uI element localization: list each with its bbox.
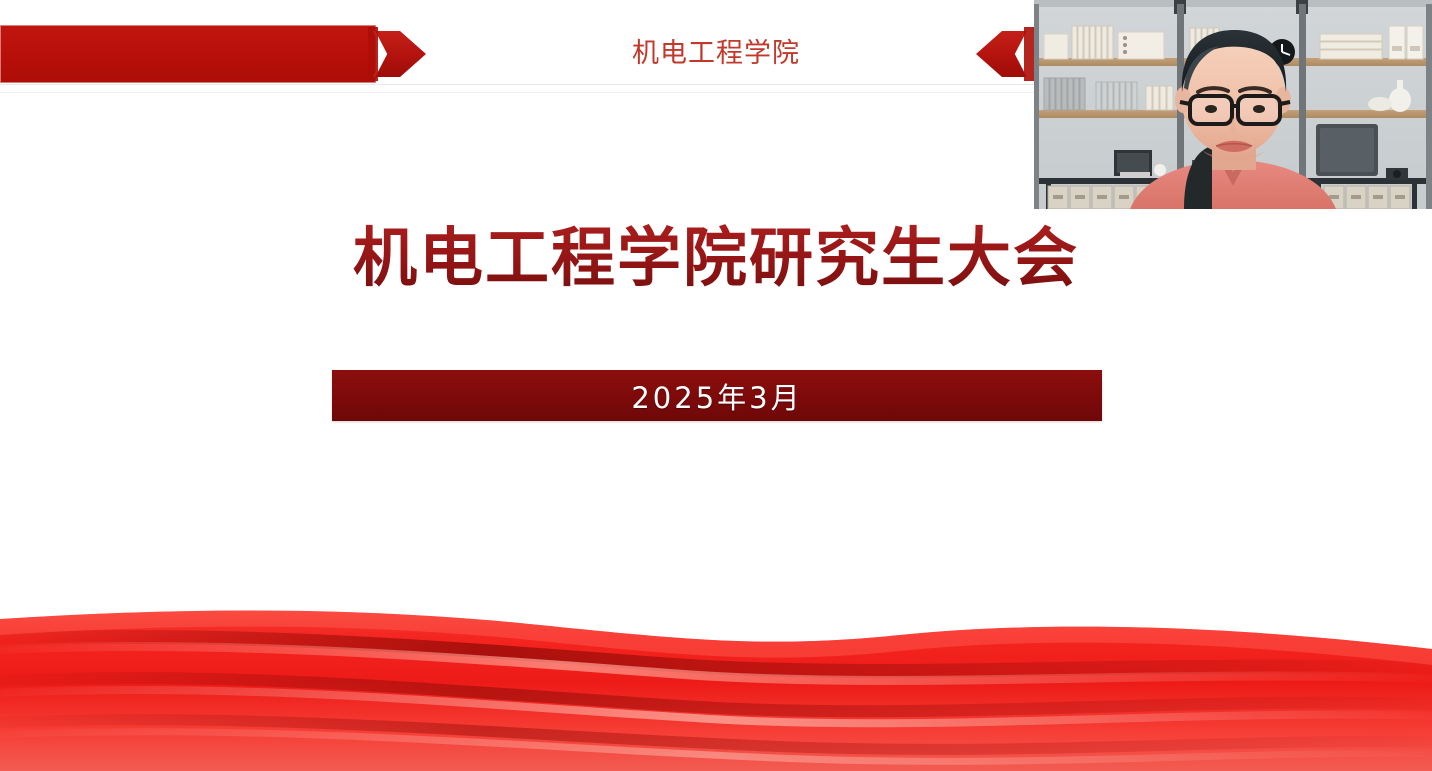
page-title: 机电工程学院研究生大会	[0, 213, 1432, 305]
red-silk-ribbon	[0, 591, 1432, 771]
presentation-screen: 机电工程学院 机电工程学院研究生大会 2025年3月	[0, 0, 1432, 771]
date-banner: 2025年3月	[332, 370, 1102, 421]
date-banner-label: 2025年3月	[631, 375, 802, 417]
desk-monitor	[1316, 124, 1378, 176]
participant-video[interactable]	[1034, 0, 1432, 209]
webcam-scene	[1034, 0, 1432, 209]
laptop	[1114, 150, 1152, 178]
